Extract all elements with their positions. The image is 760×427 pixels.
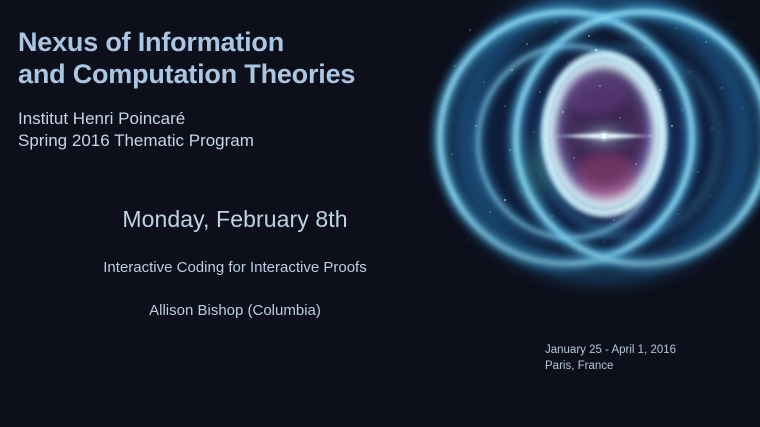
venue-subtitle: Institut Henri Poincaré Spring 2016 Them… xyxy=(18,108,254,153)
presentation-slide: Nexus of Information and Computation The… xyxy=(0,0,760,427)
talk-date: Monday, February 8th xyxy=(0,206,470,233)
talk-speaker: Allison Bishop (Columbia) xyxy=(0,302,470,319)
talk-info: Monday, February 8th Interactive Coding … xyxy=(0,206,470,319)
program-dates-location: January 25 - April 1, 2016 Paris, France xyxy=(545,342,676,375)
page-title: Nexus of Information and Computation The… xyxy=(18,27,355,90)
talk-title: Interactive Coding for Interactive Proof… xyxy=(0,259,470,276)
